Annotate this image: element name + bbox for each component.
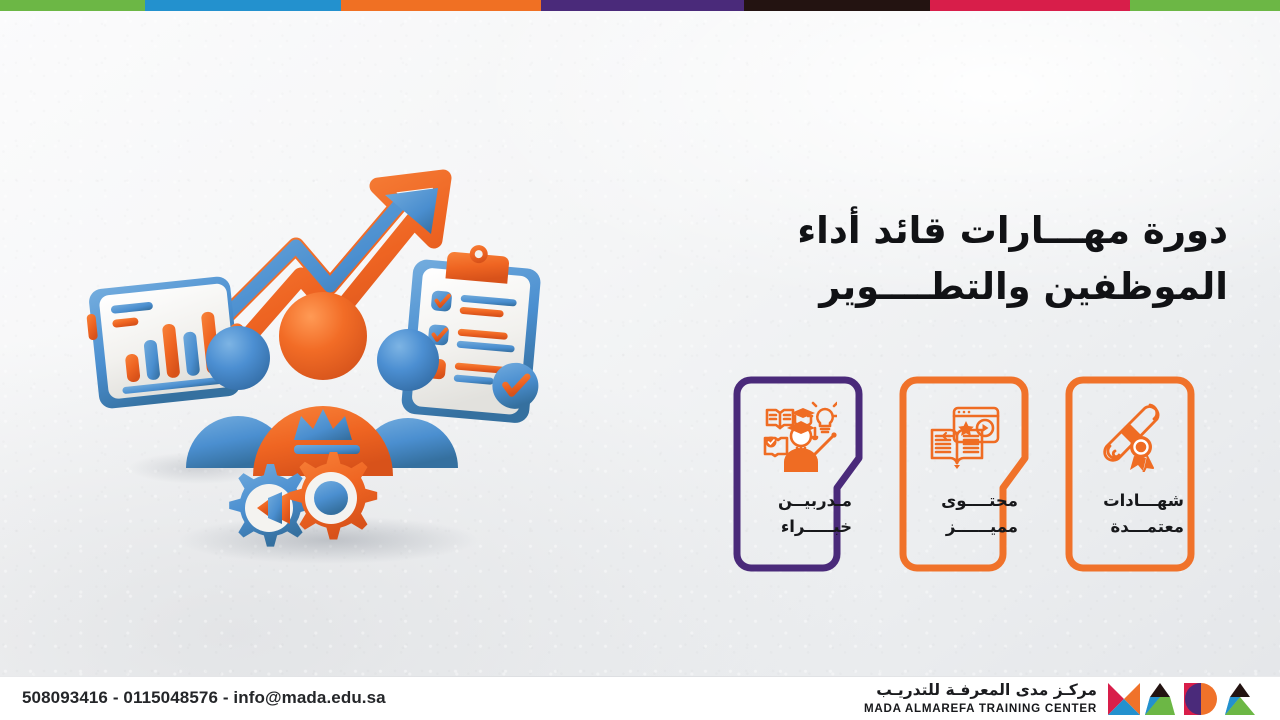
feature-card-content[interactable]: محتــــوى مميــــــز	[899, 376, 1029, 572]
leadership-3d-illustration	[78, 168, 578, 588]
brand-text: مركـز مدى المعرفـة للتدريـب MADA ALMAREF…	[864, 683, 1097, 715]
feature-cards: مـدربيــن خبـــــراء	[733, 376, 1195, 574]
topbar-segment-orange	[341, 0, 541, 11]
gear-megaphone	[229, 464, 312, 547]
topbar-segment-green-end	[1130, 0, 1280, 11]
card-label-line1: شهـــادات	[1074, 488, 1184, 514]
card-label-line2: معتمـــدة	[1074, 514, 1184, 540]
topbar-segment-blue	[145, 0, 341, 11]
course-promo-poster: دورة مهـــارات قائد أداء الموظفين والتطـ…	[0, 0, 1280, 720]
feature-card-trainers[interactable]: مـدربيــن خبـــــراء	[733, 376, 863, 572]
brand-name-arabic: مركـز مدى المعرفـة للتدريـب	[864, 683, 1097, 699]
book-media-icon	[899, 388, 1029, 486]
page-title: دورة مهـــارات قائد أداء الموظفين والتطـ…	[628, 203, 1228, 315]
topbar-segment-crimson	[930, 0, 1130, 11]
brand-lockup: مركـز مدى المعرفـة للتدريـب MADA ALMAREF…	[864, 681, 1264, 717]
top-color-bar	[0, 0, 1280, 11]
contact-info[interactable]: 508093416 - 0115048576 - info@mada.edu.s…	[22, 688, 386, 708]
teacher-icon	[733, 388, 863, 486]
footer-bar: 508093416 - 0115048576 - info@mada.edu.s…	[0, 676, 1280, 720]
feature-card-certificates[interactable]: شهـــادات معتمـــدة	[1065, 376, 1195, 572]
brand-name-english: MADA ALMAREFA TRAINING CENTER	[864, 703, 1097, 715]
topbar-segment-black	[744, 0, 930, 11]
card-label-trainers: مـدربيــن خبـــــراء	[742, 488, 852, 540]
card-label-line1: محتــــوى	[908, 488, 1018, 514]
topbar-segment-green	[0, 0, 145, 11]
topbar-segment-purple	[541, 0, 744, 11]
clipboard-checklist-icon	[401, 240, 551, 425]
card-label-content: محتــــوى مميــــــز	[908, 488, 1018, 540]
card-label-line2: مميــــــز	[908, 514, 1018, 540]
footer-divider	[0, 676, 1280, 677]
card-label-line2: خبـــــراء	[742, 514, 852, 540]
card-label-certificates: شهـــادات معتمـــدة	[1074, 488, 1184, 540]
mada-logo-icon	[1106, 681, 1264, 717]
diploma-icon	[1065, 388, 1195, 486]
card-label-line1: مـدربيــن	[742, 488, 852, 514]
gear-plain	[290, 452, 377, 539]
